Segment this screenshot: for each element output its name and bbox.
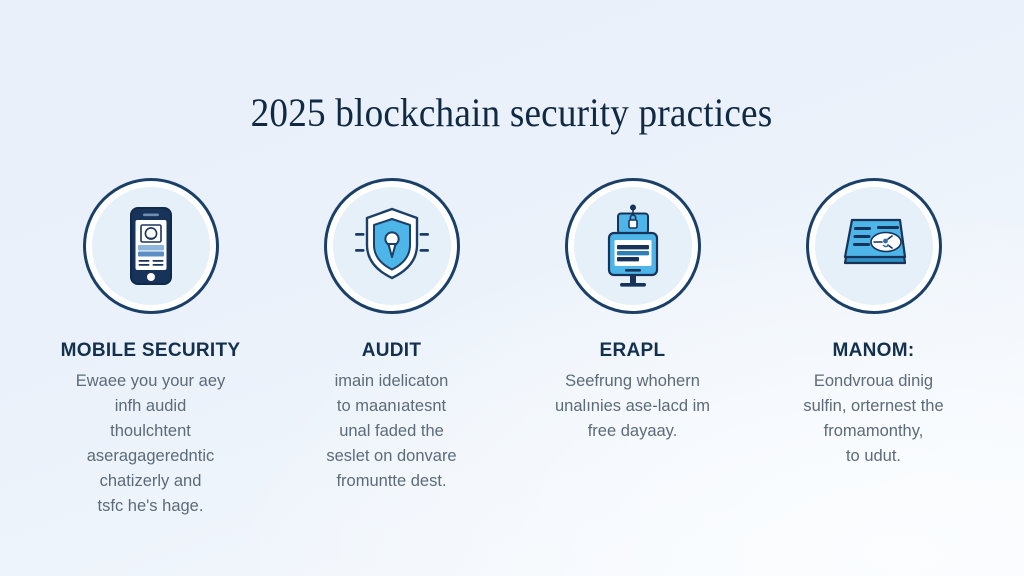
page-title: 2025 blockchain security practices [251, 89, 773, 137]
body-line: imain idelicaton [271, 369, 512, 394]
body-line: chatizerly and [30, 469, 271, 494]
body-line: fromamonthy, [753, 419, 994, 444]
column-heading: ERAPL [600, 340, 666, 362]
id-card-icon [826, 198, 922, 294]
body-line: aseragageredntic [30, 444, 271, 469]
icon-badge-audit [324, 178, 460, 314]
shield-lock-icon [344, 198, 440, 294]
body-line: seslet on donvare [271, 444, 512, 469]
body-line: sulfin, orternest the [753, 394, 994, 419]
column-body-text: Seefrung whohern unalınies ase-lacd im f… [512, 369, 753, 444]
body-line: unal faded the [271, 419, 512, 444]
body-line: to maanıatesnt [271, 394, 512, 419]
infographic-poster: 2025 blockchain security practices [0, 0, 1024, 576]
mobile-phone-icon [103, 198, 199, 294]
body-line: fromuntte dest. [271, 469, 512, 494]
feature-columns: MOBILE SECURITY Ewaee you your aey infh … [30, 178, 994, 519]
column-body-text: imain idelicaton to maanıatesnt unal fad… [271, 369, 512, 494]
icon-badge-manom [806, 178, 942, 314]
desktop-monitor-lock-icon [585, 198, 681, 294]
column-heading: MANOM: [832, 340, 914, 362]
icon-badge-mobile-security [83, 178, 219, 314]
feature-column-erapl: ERAPL Seefrung whohern unalınies ase-lac… [512, 178, 753, 444]
body-line: Eondvroua dinig [753, 369, 994, 394]
title-container: 2025 blockchain security practices [0, 62, 1024, 164]
body-line: Seefrung whohern [512, 369, 753, 394]
body-line: Ewaee you your aey [30, 369, 271, 394]
body-line: free dayaay. [512, 419, 753, 444]
icon-badge-erapl [565, 178, 701, 314]
column-body-text: Ewaee you your aey infh audid thoulchten… [30, 369, 271, 519]
feature-column-manom: MANOM: Eondvroua dinig sulfin, orternest… [753, 178, 994, 469]
body-line: to udut. [753, 444, 994, 469]
body-line: tsfc he's hage. [30, 494, 271, 519]
feature-column-mobile-security: MOBILE SECURITY Ewaee you your aey infh … [30, 178, 271, 519]
body-line: unalınies ase-lacd im [512, 394, 753, 419]
column-heading: MOBILE SECURITY [61, 340, 241, 362]
column-body-text: Eondvroua dinig sulfin, orternest the fr… [753, 369, 994, 469]
feature-column-audit: AUDIT imain idelicaton to maanıatesnt un… [271, 178, 512, 494]
column-heading: AUDIT [362, 340, 422, 362]
body-line: infh audid [30, 394, 271, 419]
body-line: thoulchtent [30, 419, 271, 444]
